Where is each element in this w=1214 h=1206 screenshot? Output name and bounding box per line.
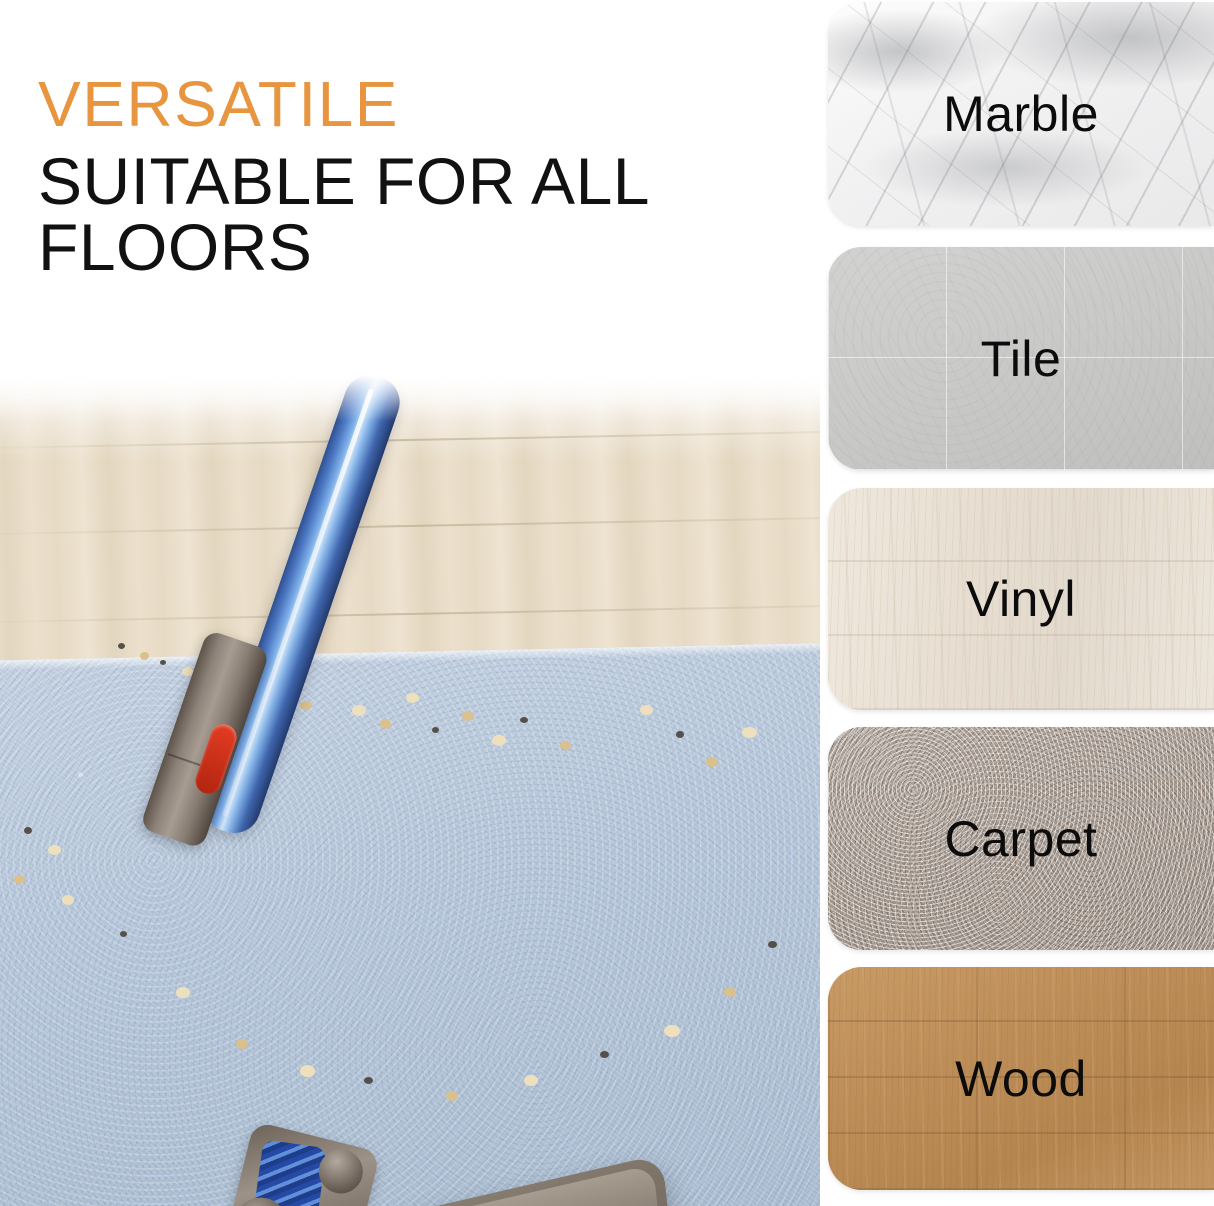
debris-crumb — [664, 1025, 680, 1037]
swatch-label-wood: Wood — [955, 1050, 1087, 1108]
swatch-tile: Tile — [828, 247, 1214, 470]
swatch-wood: Wood — [828, 967, 1214, 1190]
debris-crumb — [676, 731, 684, 738]
debris-crumb — [600, 1051, 609, 1058]
debris-crumb — [14, 875, 25, 884]
debris-crumb — [48, 845, 61, 855]
debris-crumb — [176, 987, 190, 998]
debris-crumb — [364, 1077, 373, 1084]
debris-crumb — [160, 660, 166, 665]
debris-crumb — [742, 727, 757, 738]
left-column: VERSATILE SUITABLE FOR ALL FLOORS — [0, 0, 820, 1206]
debris-crumb — [768, 941, 777, 948]
debris-crumb — [380, 719, 391, 729]
floor-type-swatch-rail: Marble Tile Vinyl Carpet Wood — [828, 0, 1214, 1206]
swatch-label-carpet: Carpet — [944, 810, 1097, 868]
swatch-label-marble: Marble — [943, 85, 1099, 143]
swatch-marble: Marble — [828, 2, 1214, 226]
neck-coil — [251, 1139, 327, 1206]
swatch-vinyl: Vinyl — [828, 488, 1214, 710]
headline-main: SUITABLE FOR ALL FLOORS — [38, 148, 778, 280]
debris-crumb — [406, 693, 419, 703]
debris-crumb — [62, 895, 74, 905]
debris-crumb — [352, 705, 366, 716]
swatch-label-tile: Tile — [981, 330, 1062, 388]
debris-crumb — [300, 701, 312, 710]
product-photo — [0, 375, 820, 1206]
debris-crumb — [724, 987, 736, 997]
debris-crumb — [118, 643, 125, 649]
debris-crumb — [120, 931, 127, 937]
debris-crumb — [640, 705, 653, 715]
headline-eyebrow: VERSATILE — [38, 72, 798, 136]
debris-crumb — [560, 741, 571, 750]
debris-crumb — [300, 1065, 315, 1077]
headline-block: VERSATILE SUITABLE FOR ALL FLOORS — [38, 72, 798, 280]
debris-crumb — [492, 735, 506, 746]
carpet-nap-texture — [0, 642, 820, 1206]
photo-carpet-area — [0, 642, 820, 1206]
debris-crumb — [524, 1075, 538, 1086]
debris-crumb — [446, 1091, 458, 1101]
debris-crumb — [462, 711, 474, 721]
debris-crumb — [24, 827, 32, 834]
debris-crumb — [432, 727, 439, 733]
debris-crumb — [236, 1039, 248, 1049]
swatch-carpet: Carpet — [828, 727, 1214, 950]
swatch-label-vinyl: Vinyl — [966, 570, 1076, 628]
debris-crumb — [706, 757, 718, 767]
debris-crumb — [520, 717, 528, 723]
debris-crumb — [140, 652, 149, 660]
